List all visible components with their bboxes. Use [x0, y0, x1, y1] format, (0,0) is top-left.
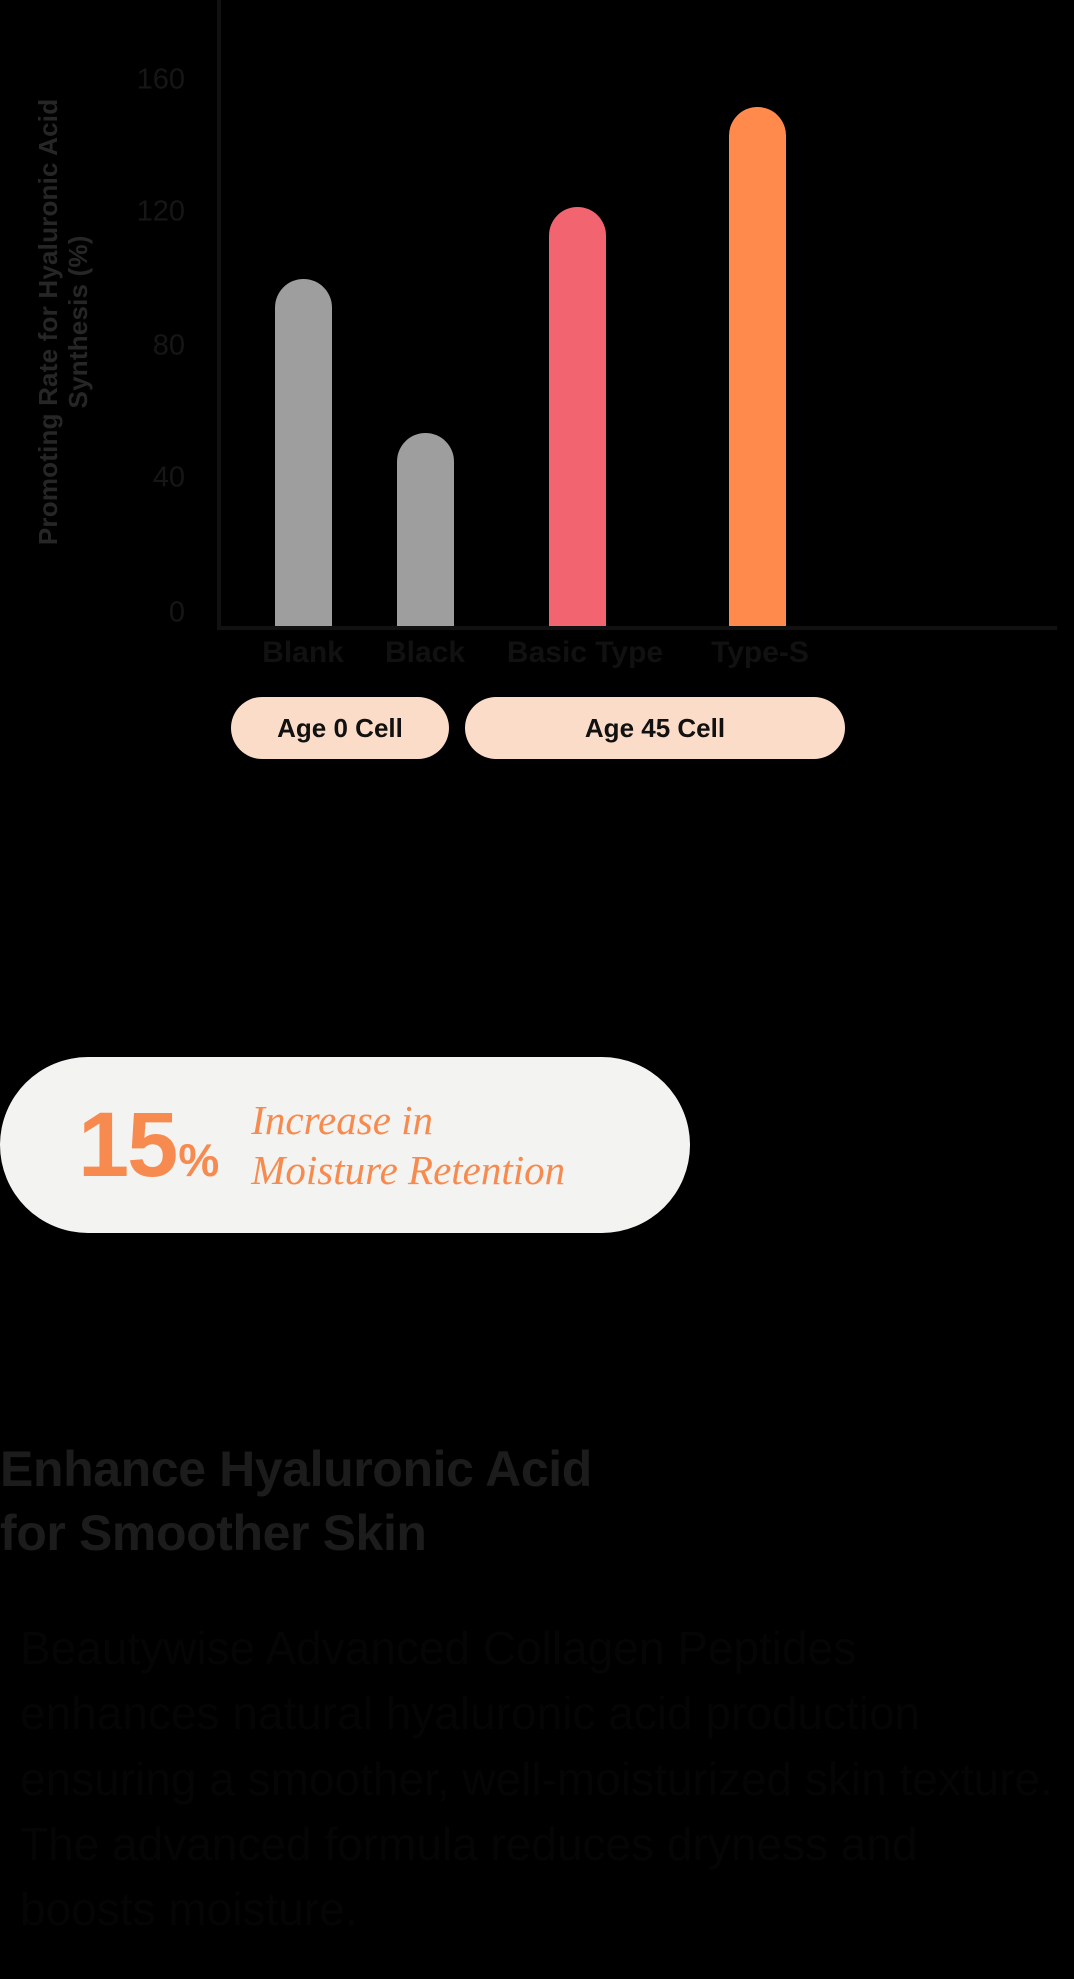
y-tick-label: 0 [169, 597, 185, 630]
bar-blank [275, 279, 332, 626]
bar-type-s [729, 107, 786, 626]
group-pills: Age 0 Cell Age 45 Cell [0, 697, 1074, 761]
highlight-percent-sign: % [178, 1137, 219, 1183]
group-pill-age-0-cell: Age 0 Cell [231, 697, 449, 759]
y-axis-line [217, 0, 221, 630]
highlight-value: 15 [78, 1099, 176, 1191]
page-headline: Enhance Hyaluronic Acid for Smoother Ski… [0, 1437, 1000, 1565]
hyaluronic-acid-bar-chart: Promoting Rate for Hyaluronic Acid Synth… [0, 0, 1074, 790]
y-tick-label: 120 [137, 196, 185, 229]
x-axis-line [217, 626, 1057, 630]
plot-area: Blank Black Basic Type Type-S [217, 0, 1057, 630]
y-tick-label: 80 [153, 330, 185, 363]
highlight-caption: Increase in Moisture Retention [251, 1095, 565, 1195]
y-tick-label: 40 [153, 462, 185, 495]
y-tick-label: 160 [137, 64, 185, 97]
x-tick-label-black: Black [385, 636, 465, 670]
x-tick-label-blank: Blank [262, 636, 344, 670]
highlight-figure: 15 % [78, 1099, 219, 1191]
y-axis-tick-labels: 0 40 80 120 160 [0, 0, 217, 630]
x-tick-label-type-s: Type-S [711, 636, 809, 670]
bar-black [397, 433, 454, 626]
bar-basic-type [549, 207, 606, 626]
x-tick-label-basic-type: Basic Type [507, 636, 663, 670]
moisture-retention-highlight-card: 15 % Increase in Moisture Retention [0, 1057, 690, 1233]
body-paragraph: Beautywise Advanced Collagen Peptides en… [20, 1616, 1060, 1943]
group-pill-age-45-cell: Age 45 Cell [465, 697, 845, 759]
